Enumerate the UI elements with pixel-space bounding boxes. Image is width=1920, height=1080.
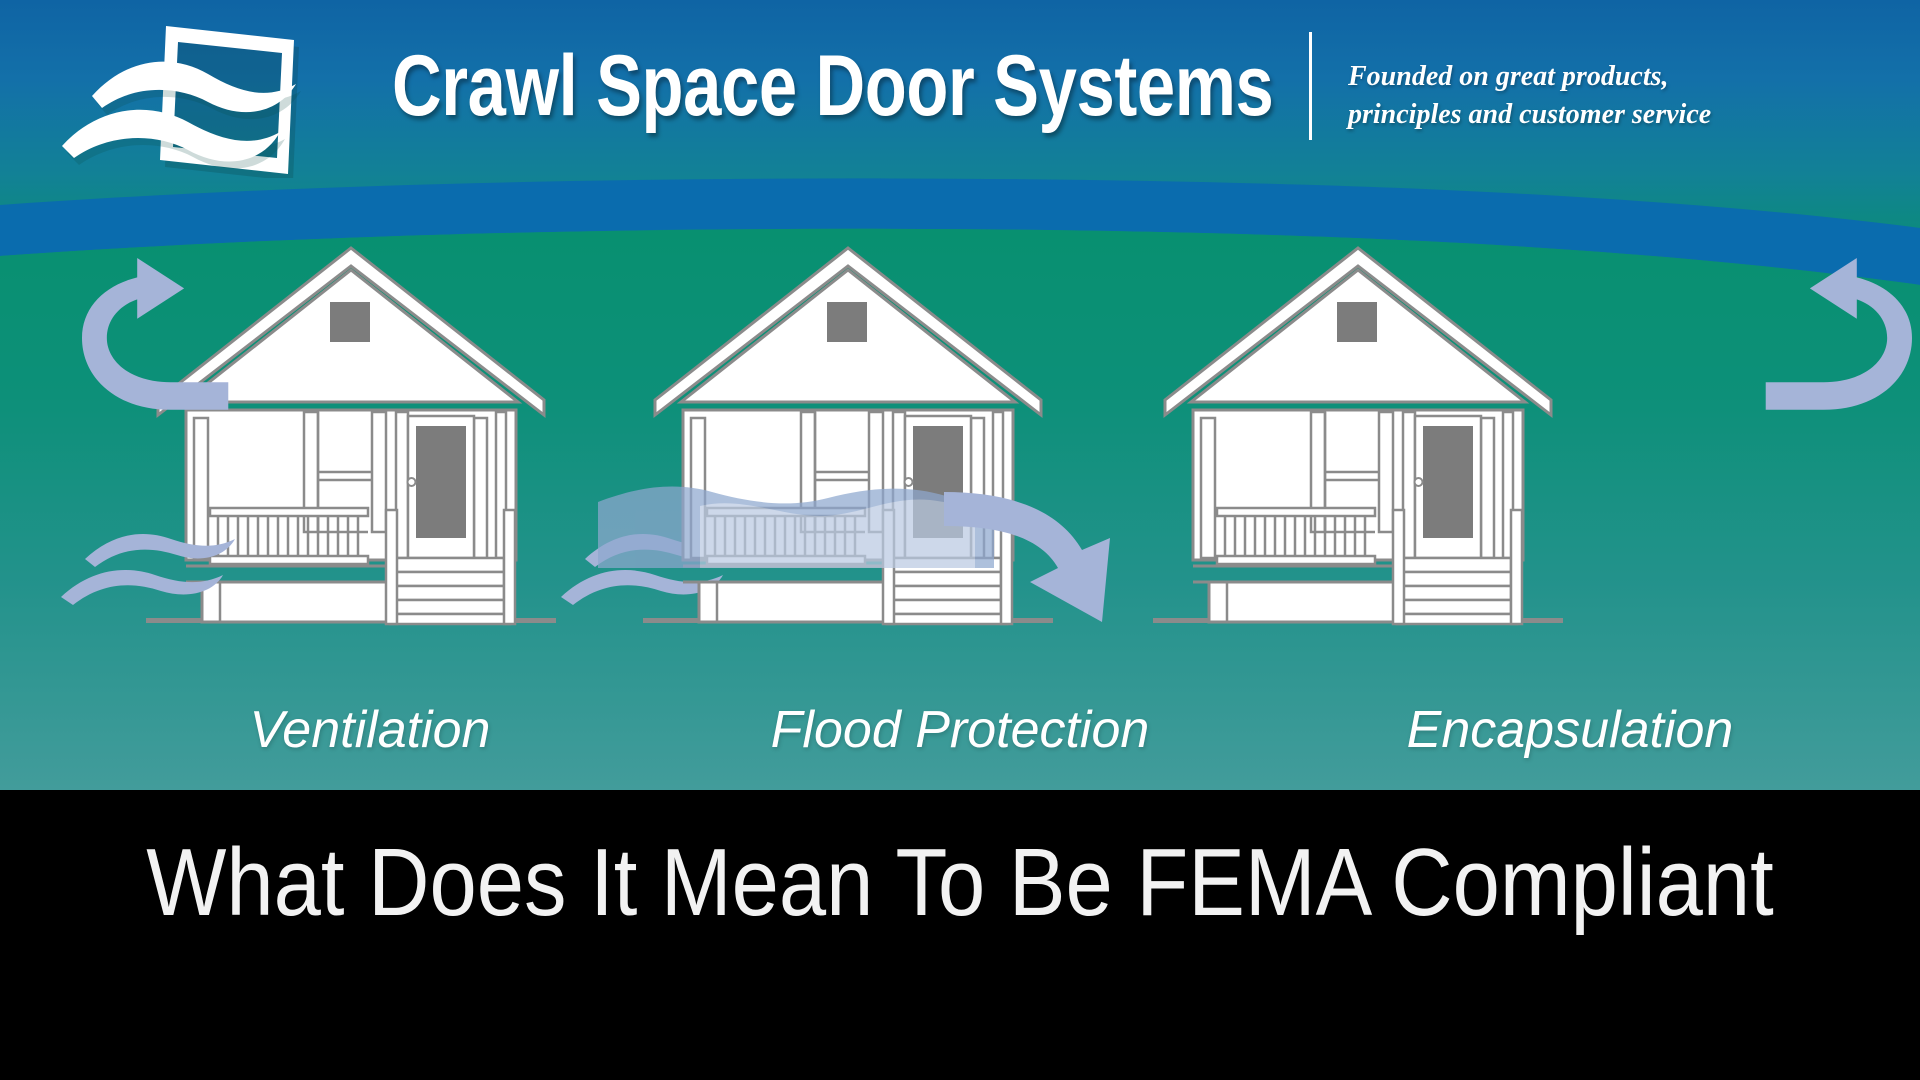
panel-label-flood-protection: Flood Protection (650, 700, 1270, 760)
banner-section: Crawl Space Door Systems Founded on grea… (0, 0, 1920, 790)
infographic-banner: Crawl Space Door Systems Founded on grea… (0, 0, 1920, 1080)
tagline-line-2: principles and customer service (1348, 96, 1818, 134)
header-divider (1309, 32, 1312, 140)
wave-door-logo-icon (48, 18, 308, 178)
panel-flood-graphic (598, 248, 1110, 624)
footer-title: What Does It Mean To Be FEMA Compliant (110, 828, 1809, 938)
brand-tagline: Founded on great products, principles an… (1348, 58, 1818, 134)
tagline-line-1: Founded on great products, (1348, 58, 1818, 96)
u-turn-arrow-left-icon (82, 258, 228, 410)
brand-wordmark: Crawl Space Door Systems (392, 26, 1112, 146)
panel-label-encapsulation: Encapsulation (1320, 700, 1820, 760)
footer-bar: What Does It Mean To Be FEMA Compliant (0, 790, 1920, 1080)
u-turn-arrow-right-icon (1766, 258, 1912, 410)
panel-label-ventilation: Ventilation (120, 700, 620, 760)
three-house-illustration (0, 230, 1920, 710)
